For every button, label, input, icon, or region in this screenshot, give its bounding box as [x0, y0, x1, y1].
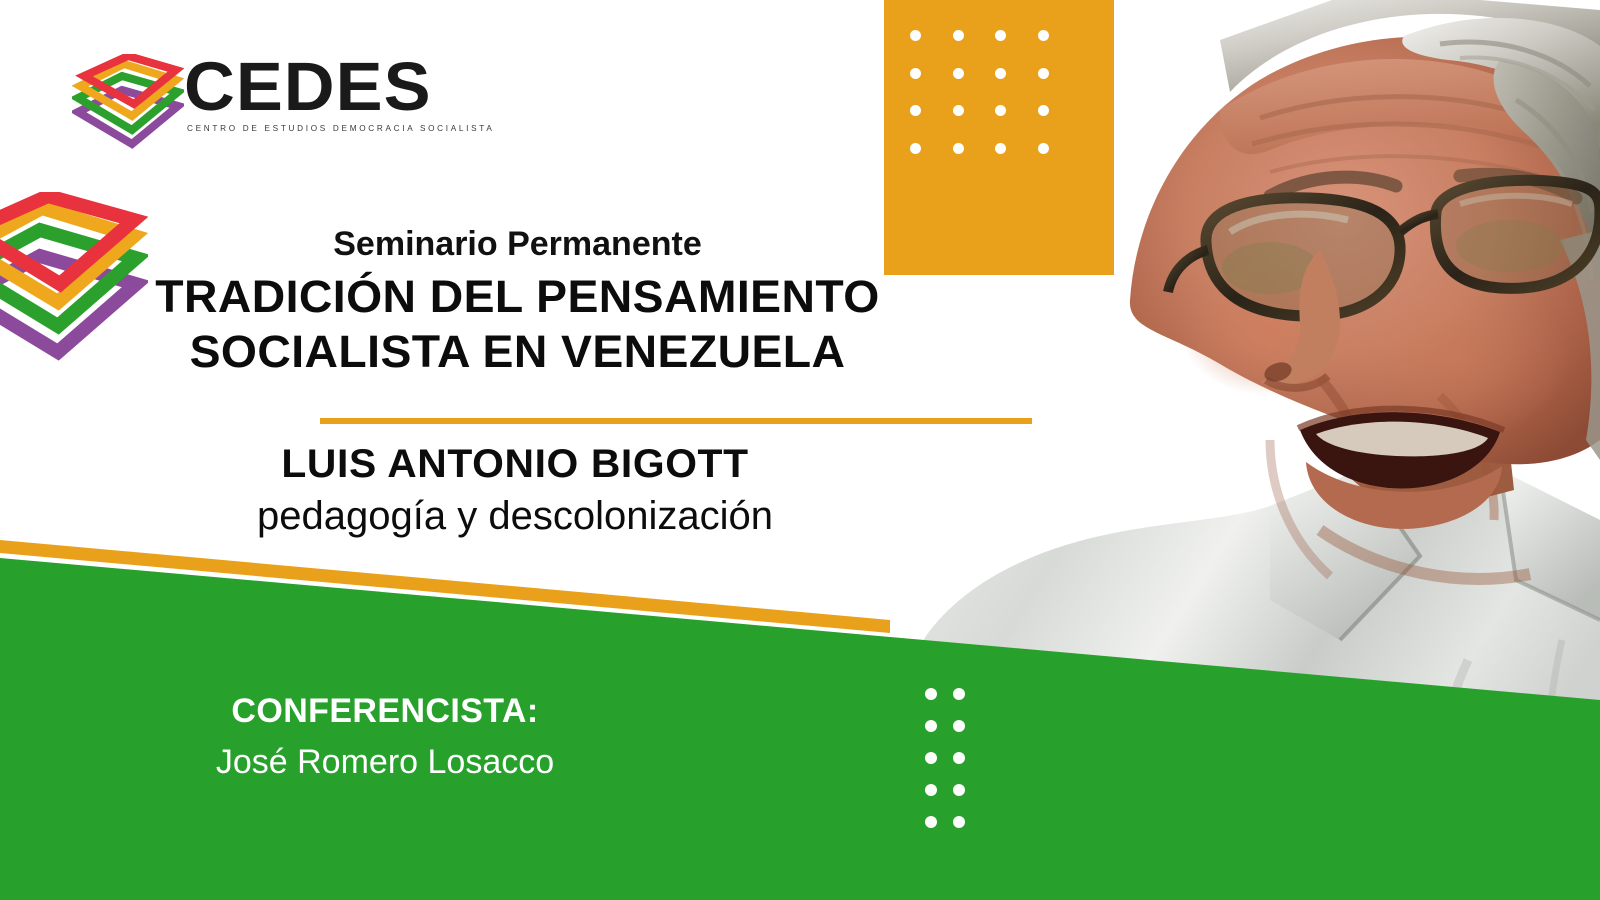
seminar-title-line-2: SOCIALISTA EN VENEZUELA: [0, 325, 1051, 380]
dot: [953, 784, 965, 796]
subject-block: LUIS ANTONIO BIGOTT pedagogía y descolon…: [0, 440, 1030, 540]
dot: [910, 68, 921, 79]
conferencista-label: CONFERENCISTA:: [0, 690, 770, 733]
dot: [953, 143, 964, 154]
top-dot-grid: [910, 30, 1080, 180]
dot: [1038, 68, 1049, 79]
subject-topic: pedagogía y descolonización: [0, 492, 1030, 540]
dot: [1038, 143, 1049, 154]
subject-name: LUIS ANTONIO BIGOTT: [0, 440, 1040, 488]
dot: [925, 720, 937, 732]
dot: [1038, 30, 1049, 41]
cedes-nested-squares-mark-icon: [72, 54, 184, 164]
footer-block: CONFERENCISTA: José Romero Losacco: [0, 690, 770, 784]
poster-canvas: CEDES CENTRO DE ESTUDIOS DEMOCRACIA SOCI…: [0, 0, 1600, 900]
dot: [995, 143, 1006, 154]
main-heading-block: Seminario Permanente TRADICIÓN DEL PENSA…: [0, 225, 1035, 380]
dot: [925, 688, 937, 700]
dot: [925, 784, 937, 796]
dot: [995, 105, 1006, 116]
cedes-tagline: CENTRO DE ESTUDIOS DEMOCRACIA SOCIALISTA: [187, 124, 434, 133]
seminar-eyebrow: Seminario Permanente: [0, 225, 1035, 264]
dot: [953, 105, 964, 116]
conferencista-name: José Romero Losacco: [0, 740, 770, 784]
dot: [925, 752, 937, 764]
dot: [953, 688, 965, 700]
dot: [953, 720, 965, 732]
bottom-dot-grid: [925, 688, 981, 848]
dot: [953, 68, 964, 79]
dot: [995, 68, 1006, 79]
dot: [953, 30, 964, 41]
dot: [995, 30, 1006, 41]
dot: [925, 816, 937, 828]
dot: [910, 143, 921, 154]
dot: [910, 105, 921, 116]
dot: [1038, 105, 1049, 116]
dot: [953, 816, 965, 828]
seminar-title: TRADICIÓN DEL PENSAMIENTO SOCIALISTA EN …: [0, 270, 1051, 380]
cedes-logo: CEDES CENTRO DE ESTUDIOS DEMOCRACIA SOCI…: [72, 52, 432, 167]
dot: [953, 752, 965, 764]
cedes-wordmark: CEDES: [184, 52, 439, 122]
seminar-title-line-1: TRADICIÓN DEL PENSAMIENTO: [0, 270, 1051, 325]
dot: [910, 30, 921, 41]
orange-divider-rule: [320, 418, 1032, 424]
